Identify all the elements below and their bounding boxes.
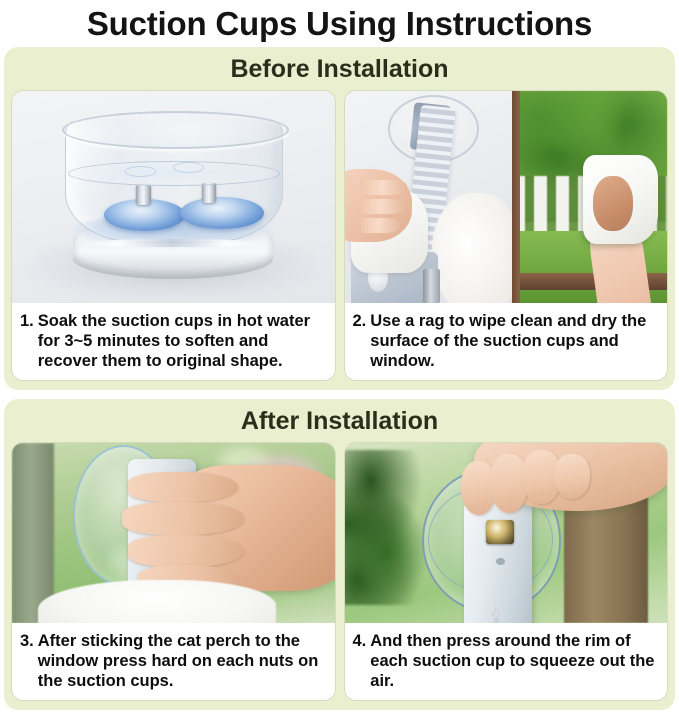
water-ripple-left xyxy=(125,166,156,176)
suction-cup-right xyxy=(180,197,264,229)
hand-finger-1 xyxy=(128,472,238,503)
section-after-installation: After Installation xyxy=(4,399,675,710)
suction-cup-nut xyxy=(486,520,513,543)
step-card-2: 2. Use a rag to wipe clean and dry the s… xyxy=(345,91,668,380)
suction-cup-bolt-left xyxy=(136,185,151,205)
step-number-1: 1. xyxy=(20,311,38,371)
step-card-4: 4. And then press around the rim of each… xyxy=(345,443,668,700)
photo-half-wipe-bracket xyxy=(345,91,513,303)
caption-step-4: 4. And then press around the rim of each… xyxy=(345,623,668,700)
paw-toe-4 xyxy=(499,612,501,617)
metal-clip xyxy=(423,269,440,303)
finger-2 xyxy=(361,199,405,214)
hand-finger-3 xyxy=(128,535,244,567)
photo-split-container xyxy=(345,91,668,303)
paw-toe-1 xyxy=(492,611,494,617)
photo-press-rim-of-suction-cup xyxy=(345,443,668,623)
step-text-2: Use a rag to wipe clean and dry the surf… xyxy=(370,311,658,371)
paw-main-pad xyxy=(494,617,499,623)
instruction-sheet: Suction Cups Using Instructions Before I… xyxy=(0,0,679,718)
step-number-4: 4. xyxy=(353,631,371,691)
window-post xyxy=(12,443,54,623)
section-before-installation: Before Installation xyxy=(4,47,675,390)
step-number-3: 3. xyxy=(20,631,38,691)
step-number-2: 2. xyxy=(353,311,371,371)
step-text-4: And then press around the rim of each su… xyxy=(370,631,658,691)
section-heading-after: After Installation xyxy=(12,405,667,437)
bowl-base-glint xyxy=(89,239,257,246)
photo-half-wipe-window xyxy=(512,91,667,303)
water-ripple-right xyxy=(173,162,204,173)
photo-press-nut-on-suction-cup xyxy=(12,443,335,623)
white-fur-pad xyxy=(432,193,512,303)
section-heading-before: Before Installation xyxy=(12,53,667,85)
bowl-rim xyxy=(62,111,289,149)
step-card-3: 3. After sticking the cat perch to the w… xyxy=(12,443,335,700)
finger-3 xyxy=(361,218,400,233)
card-row-after: 3. After sticking the cat perch to the w… xyxy=(12,443,667,700)
white-perch-cushion xyxy=(38,580,277,623)
page-title: Suction Cups Using Instructions xyxy=(0,0,679,47)
hand-finger-4 xyxy=(554,454,589,499)
photo-glass-bowl-of-hot-water xyxy=(12,91,335,303)
hand-gripping-cloth xyxy=(593,176,633,231)
caption-step-3: 3. After sticking the cat perch to the w… xyxy=(12,623,335,700)
hand-finger-2 xyxy=(122,502,245,534)
caption-step-2: 2. Use a rag to wipe clean and dry the s… xyxy=(345,303,668,380)
step-text-3: After sticking the cat perch to the wind… xyxy=(38,631,326,691)
window-frame xyxy=(512,91,520,303)
photo-wipe-cups-and-window xyxy=(345,91,668,303)
step-card-1: 1. Soak the suction cups in hot water fo… xyxy=(12,91,335,380)
caption-step-1: 1. Soak the suction cups in hot water fo… xyxy=(12,303,335,380)
step-text-1: Soak the suction cups in hot water for 3… xyxy=(38,311,326,371)
paw-print-icon xyxy=(492,607,500,623)
finger-1 xyxy=(361,180,406,195)
card-row-before: 1. Soak the suction cups in hot water fo… xyxy=(12,91,667,380)
suction-cup-bolt-right xyxy=(202,183,217,203)
